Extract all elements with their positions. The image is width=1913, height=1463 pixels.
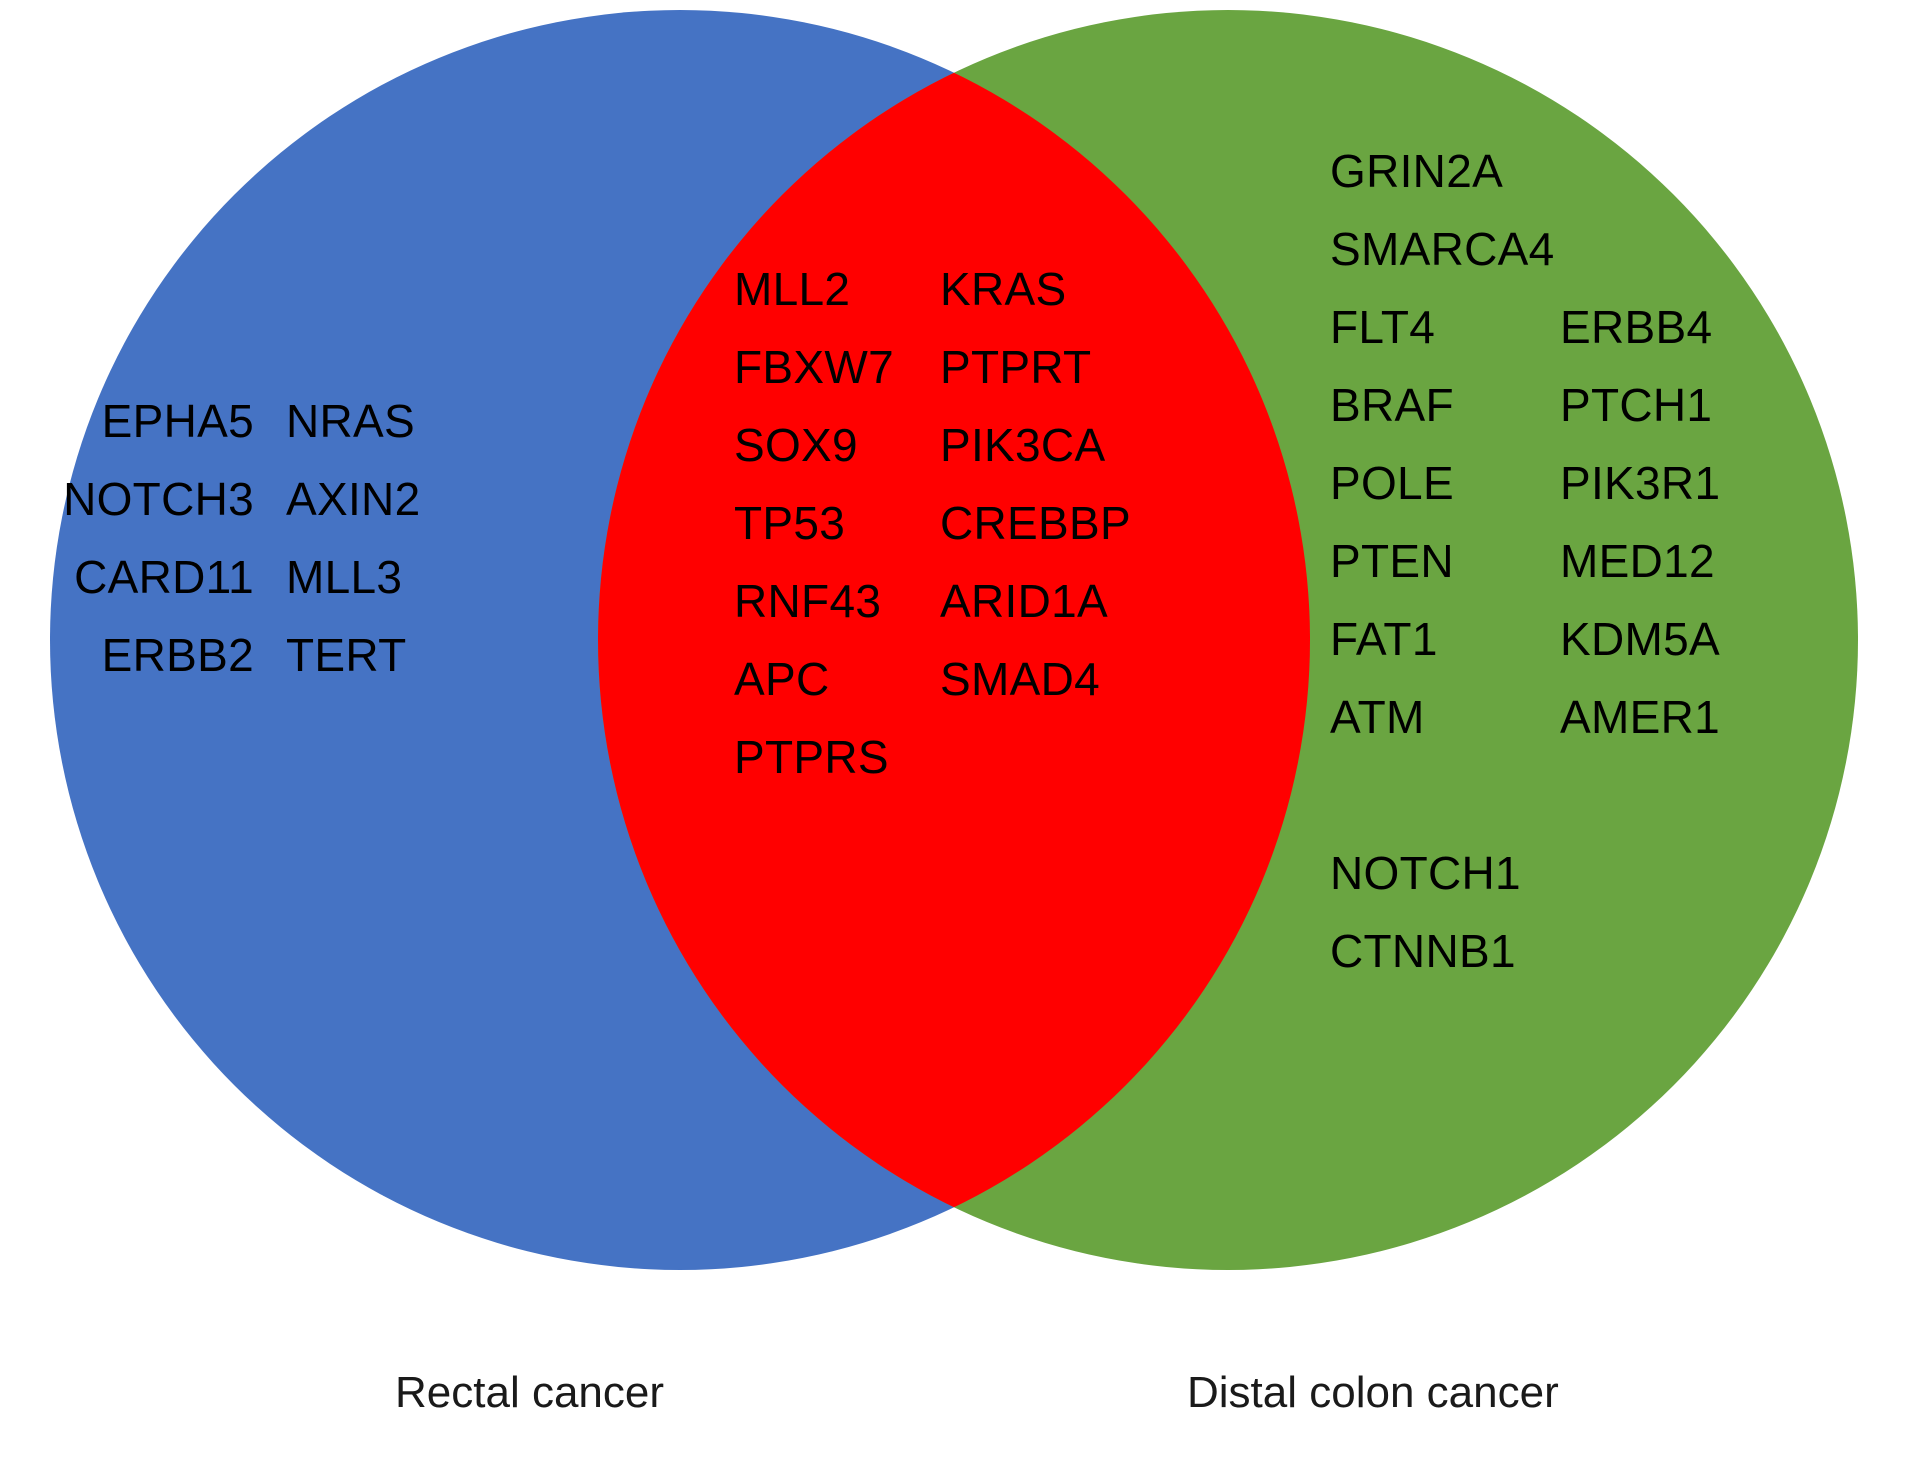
venn-diagram: EPHA5 NOTCH3 CARD11 ERBB2 NRAS AXIN2 MLL… [0,0,1913,1463]
venn-circles [0,0,1913,1463]
right-set-caption: Distal colon cancer [1187,1368,1559,1418]
left-set-caption: Rectal cancer [395,1368,664,1418]
